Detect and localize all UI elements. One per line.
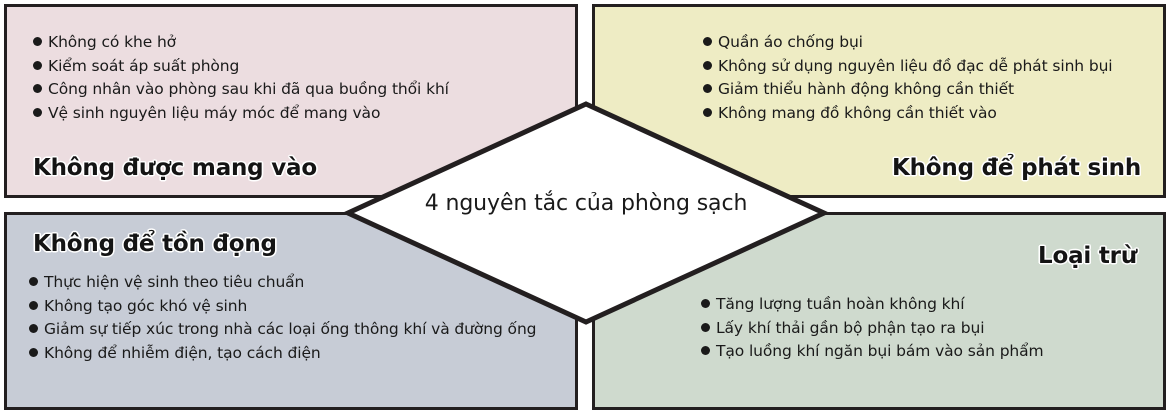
quadrant-top-right-bullet-list: Quần áo chống bụi Không sử dụng nguyên l… — [703, 31, 1113, 125]
list-item-label: Quần áo chống bụi — [718, 31, 863, 55]
list-item-label: Giảm thiểu hành động không cần thiết — [718, 78, 1014, 102]
list-item: Không để nhiễm điện, tạo cách điện — [29, 342, 536, 366]
list-item: Không có khe hở — [33, 31, 449, 55]
quadrant-bottom-left-bullet-list: Thực hiện vệ sinh theo tiêu chuẩn Không … — [29, 271, 536, 365]
list-item: Quần áo chống bụi — [703, 31, 1113, 55]
list-item: Tăng lượng tuần hoàn không khí — [701, 293, 1044, 317]
list-item: Tạo luồng khí ngăn bụi bám vào sản phẩm — [701, 340, 1044, 364]
quadrant-top-right: Quần áo chống bụi Không sử dụng nguyên l… — [592, 4, 1166, 198]
list-item-label: Thực hiện vệ sinh theo tiêu chuẩn — [44, 271, 304, 295]
quadrant-top-left: Không có khe hở Kiểm soát áp suất phòng … — [4, 4, 578, 198]
bullet-circle-icon — [33, 37, 42, 46]
list-item: Lấy khí thải gần bộ phận tạo ra bụi — [701, 317, 1044, 341]
bullet-circle-icon — [701, 299, 710, 308]
quadrant-top-right-heading: Không để phát sinh — [892, 155, 1141, 181]
center-diamond-title: 4 nguyên tắc của phòng sạch — [344, 191, 828, 216]
list-item-label: Vệ sinh nguyên liệu máy móc để mang vào — [48, 102, 380, 126]
quadrant-bottom-right-heading: Loại trừ — [1038, 243, 1137, 269]
list-item-label: Tăng lượng tuần hoàn không khí — [716, 293, 964, 317]
list-item: Kiểm soát áp suất phòng — [33, 55, 449, 79]
bullet-circle-icon — [33, 84, 42, 93]
bullet-circle-icon — [33, 61, 42, 70]
bullet-circle-icon — [701, 346, 710, 355]
list-item-label: Lấy khí thải gần bộ phận tạo ra bụi — [716, 317, 984, 341]
bullet-circle-icon — [703, 61, 712, 70]
list-item: Không mang đồ không cần thiết vào — [703, 102, 1113, 126]
list-item-label: Không mang đồ không cần thiết vào — [718, 102, 997, 126]
list-item: Giảm sự tiếp xúc trong nhà các loại ống … — [29, 318, 536, 342]
list-item-label: Kiểm soát áp suất phòng — [48, 55, 239, 79]
bullet-circle-icon — [703, 37, 712, 46]
quadrant-bottom-right: Loại trừ Tăng lượng tuần hoàn không khí … — [592, 212, 1166, 410]
list-item-label: Không sử dụng nguyên liệu đồ đạc dễ phát… — [718, 55, 1113, 79]
list-item: Giảm thiểu hành động không cần thiết — [703, 78, 1113, 102]
quadrant-top-left-bullet-list: Không có khe hở Kiểm soát áp suất phòng … — [33, 31, 449, 125]
quadrant-bottom-left-heading: Không để tồn đọng — [33, 231, 277, 257]
list-item: Không tạo góc khó vệ sinh — [29, 295, 536, 319]
list-item-label: Không có khe hở — [48, 31, 176, 55]
bullet-circle-icon — [703, 108, 712, 117]
bullet-circle-icon — [29, 277, 38, 286]
list-item-label: Không tạo góc khó vệ sinh — [44, 295, 247, 319]
quadrant-bottom-right-bullet-list: Tăng lượng tuần hoàn không khí Lấy khí t… — [701, 293, 1044, 364]
bullet-circle-icon — [33, 108, 42, 117]
bullet-circle-icon — [29, 348, 38, 357]
bullet-circle-icon — [29, 301, 38, 310]
list-item: Vệ sinh nguyên liệu máy móc để mang vào — [33, 102, 449, 126]
list-item-label: Không để nhiễm điện, tạo cách điện — [44, 342, 321, 366]
list-item: Không sử dụng nguyên liệu đồ đạc dễ phát… — [703, 55, 1113, 79]
quadrant-top-left-heading: Không được mang vào — [33, 155, 317, 181]
list-item-label: Giảm sự tiếp xúc trong nhà các loại ống … — [44, 318, 536, 342]
bullet-circle-icon — [29, 324, 38, 333]
quadrant-bottom-left: Không để tồn đọng Thực hiện vệ sinh theo… — [4, 212, 578, 410]
bullet-circle-icon — [701, 323, 710, 332]
cleanroom-four-principles-diagram: Không có khe hở Kiểm soát áp suất phòng … — [0, 0, 1170, 414]
list-item-label: Tạo luồng khí ngăn bụi bám vào sản phẩm — [716, 340, 1044, 364]
list-item-label: Công nhân vào phòng sau khi đã qua buồng… — [48, 78, 449, 102]
bullet-circle-icon — [703, 84, 712, 93]
list-item: Thực hiện vệ sinh theo tiêu chuẩn — [29, 271, 536, 295]
list-item: Công nhân vào phòng sau khi đã qua buồng… — [33, 78, 449, 102]
